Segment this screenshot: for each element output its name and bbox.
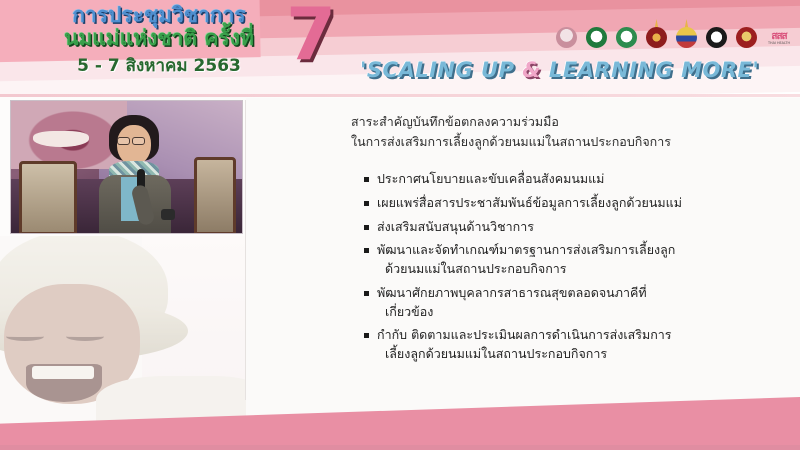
bullet-text: ประกาศนโยบายและขับเคลื่อนสังคมนมแม่ xyxy=(377,170,604,189)
presentation-slide: การประชุมวิชาการ นมแม่แห่งชาติ ครั้งที่ … xyxy=(0,0,800,450)
bullet-line-1: พัฒนาและจัดทำเกณฑ์มาตรฐานการส่งเสริมการเ… xyxy=(377,242,675,257)
list-item: เผยแพร่สื่อสารประชาสัมพันธ์ข้อมูลการเลี้… xyxy=(364,194,784,213)
bullet-line-1: ส่งเสริมสนับสนุนด้านวิชาการ xyxy=(377,219,534,234)
bullet-text: พัฒนาศักยภาพบุคลากรสาธารณสุขตลอดจนภาคีที… xyxy=(377,284,647,322)
list-item: พัฒนาและจัดทำเกณฑ์มาตรฐานการส่งเสริมการเ… xyxy=(364,241,784,279)
child-photo-watermark xyxy=(0,236,246,430)
list-item: กำกับ ติดตามและประเมินผลการดำเนินการส่งเ… xyxy=(364,326,784,364)
bullet-line-2: เกี่ยวข้อง xyxy=(377,303,647,322)
bullet-text: พัฒนาและจัดทำเกณฑ์มาตรฐานการส่งเสริมการเ… xyxy=(377,241,675,279)
government-emblem-logo-icon xyxy=(674,25,699,55)
content-heading: สาระสำคัญบันทึกข้อตกลงความร่วมมือ ในการส… xyxy=(351,112,671,153)
bullet-square-icon xyxy=(364,225,369,230)
stage-chair-left xyxy=(19,161,77,234)
edition-number: 7 xyxy=(286,0,336,70)
bullet-line-1: พัฒนาศักยภาพบุคลากรสาธารณสุขตลอดจนภาคีที… xyxy=(377,285,647,300)
bullet-line-1: กำกับ ติดตามและประเมินผลการดำเนินการส่งเ… xyxy=(377,327,672,342)
speaker-eyeglass-right xyxy=(132,137,145,145)
slogan-part-1: 'SCALING UP xyxy=(360,58,522,82)
stage-chair-right xyxy=(194,157,236,234)
bullet-text: ส่งเสริมสนับสนุนด้านวิชาการ xyxy=(377,218,534,237)
bullet-square-icon xyxy=(364,333,369,338)
department-of-health-logo-icon xyxy=(614,25,639,55)
conference-title-line1: การประชุมวิชาการ xyxy=(14,4,304,26)
bottom-edge-strip xyxy=(0,445,800,450)
national-institute-logo-icon xyxy=(734,25,759,55)
bullet-line-1: ประกาศนโยบายและขับเคลื่อนสังคมนมแม่ xyxy=(377,171,604,186)
bullet-line-2: ด้วยนมแม่ในสถานประกอบกิจการ xyxy=(377,260,675,279)
slide-content-panel: สาระสำคัญบันทึกข้อตกลงความร่วมมือ ในการส… xyxy=(246,98,800,418)
presentation-clicker-icon xyxy=(161,209,175,220)
conference-title-block: การประชุมวิชาการ นมแม่แห่งชาติ ครั้งที่ … xyxy=(14,4,304,79)
university-seal-logo-icon xyxy=(704,25,729,55)
header-bottom-divider xyxy=(0,94,800,97)
slogan-ampersand: & xyxy=(522,58,541,82)
content-heading-line1: สาระสำคัญบันทึกข้อตกลงความร่วมมือ xyxy=(351,112,671,132)
bullet-text: เผยแพร่สื่อสารประชาสัมพันธ์ข้อมูลการเลี้… xyxy=(377,194,682,213)
list-item: ประกาศนโยบายและขับเคลื่อนสังคมนมแม่ xyxy=(364,170,784,189)
header-banner: การประชุมวิชาการ นมแม่แห่งชาติ ครั้งที่ … xyxy=(0,0,800,97)
bullet-square-icon xyxy=(364,248,369,253)
speaker-eyeglass-left xyxy=(117,137,130,145)
content-heading-line2: ในการส่งเสริมการเลี้ยงลูกด้วยนมแม่ในสถาน… xyxy=(351,132,671,152)
child-eye-right xyxy=(66,332,104,341)
royal-seal-logo-icon xyxy=(644,25,669,55)
bullet-line-1: เผยแพร่สื่อสารประชาสัมพันธ์ข้อมูลการเลี้… xyxy=(377,195,682,210)
conference-slogan: 'SCALING UP & LEARNING MORE' xyxy=(360,58,759,82)
conference-title-line2: นมแม่แห่งชาติ ครั้งที่ xyxy=(14,26,304,50)
thaihealth-subtext: THAI HEALTH xyxy=(764,41,794,45)
bullet-list: ประกาศนโยบายและขับเคลื่อนสังคมนมแม่ เผยแ… xyxy=(364,170,784,369)
bullet-text: กำกับ ติดตามและประเมินผลการดำเนินการส่งเ… xyxy=(377,326,672,364)
child-teeth xyxy=(32,366,94,379)
child-eye-left xyxy=(6,332,44,341)
speaker-figure xyxy=(91,115,177,234)
bullet-square-icon xyxy=(364,201,369,206)
thai-health-promotion-foundation-logo-icon: สสส THAI HEALTH xyxy=(764,25,794,55)
bullet-square-icon xyxy=(364,177,369,182)
conference-date: 5 - 7 สิงหาคม 2563 xyxy=(14,52,304,79)
speaker-video-thumbnail[interactable] xyxy=(10,100,243,234)
ministry-of-public-health-logo-icon xyxy=(584,25,609,55)
speaker-face xyxy=(117,125,151,165)
bullet-line-2: เลี้ยงลูกด้วยนมแม่ในสถานประกอบกิจการ xyxy=(377,345,672,364)
content-left-divider xyxy=(245,100,246,400)
slogan-part-2: LEARNING MORE' xyxy=(541,58,759,82)
bullet-square-icon xyxy=(364,291,369,296)
royal-patronage-emblem-icon xyxy=(554,25,579,55)
list-item: พัฒนาศักยภาพบุคลากรสาธารณสุขตลอดจนภาคีที… xyxy=(364,284,784,322)
sponsor-logo-row: สสส THAI HEALTH xyxy=(554,25,794,55)
list-item: ส่งเสริมสนับสนุนด้านวิชาการ xyxy=(364,218,784,237)
